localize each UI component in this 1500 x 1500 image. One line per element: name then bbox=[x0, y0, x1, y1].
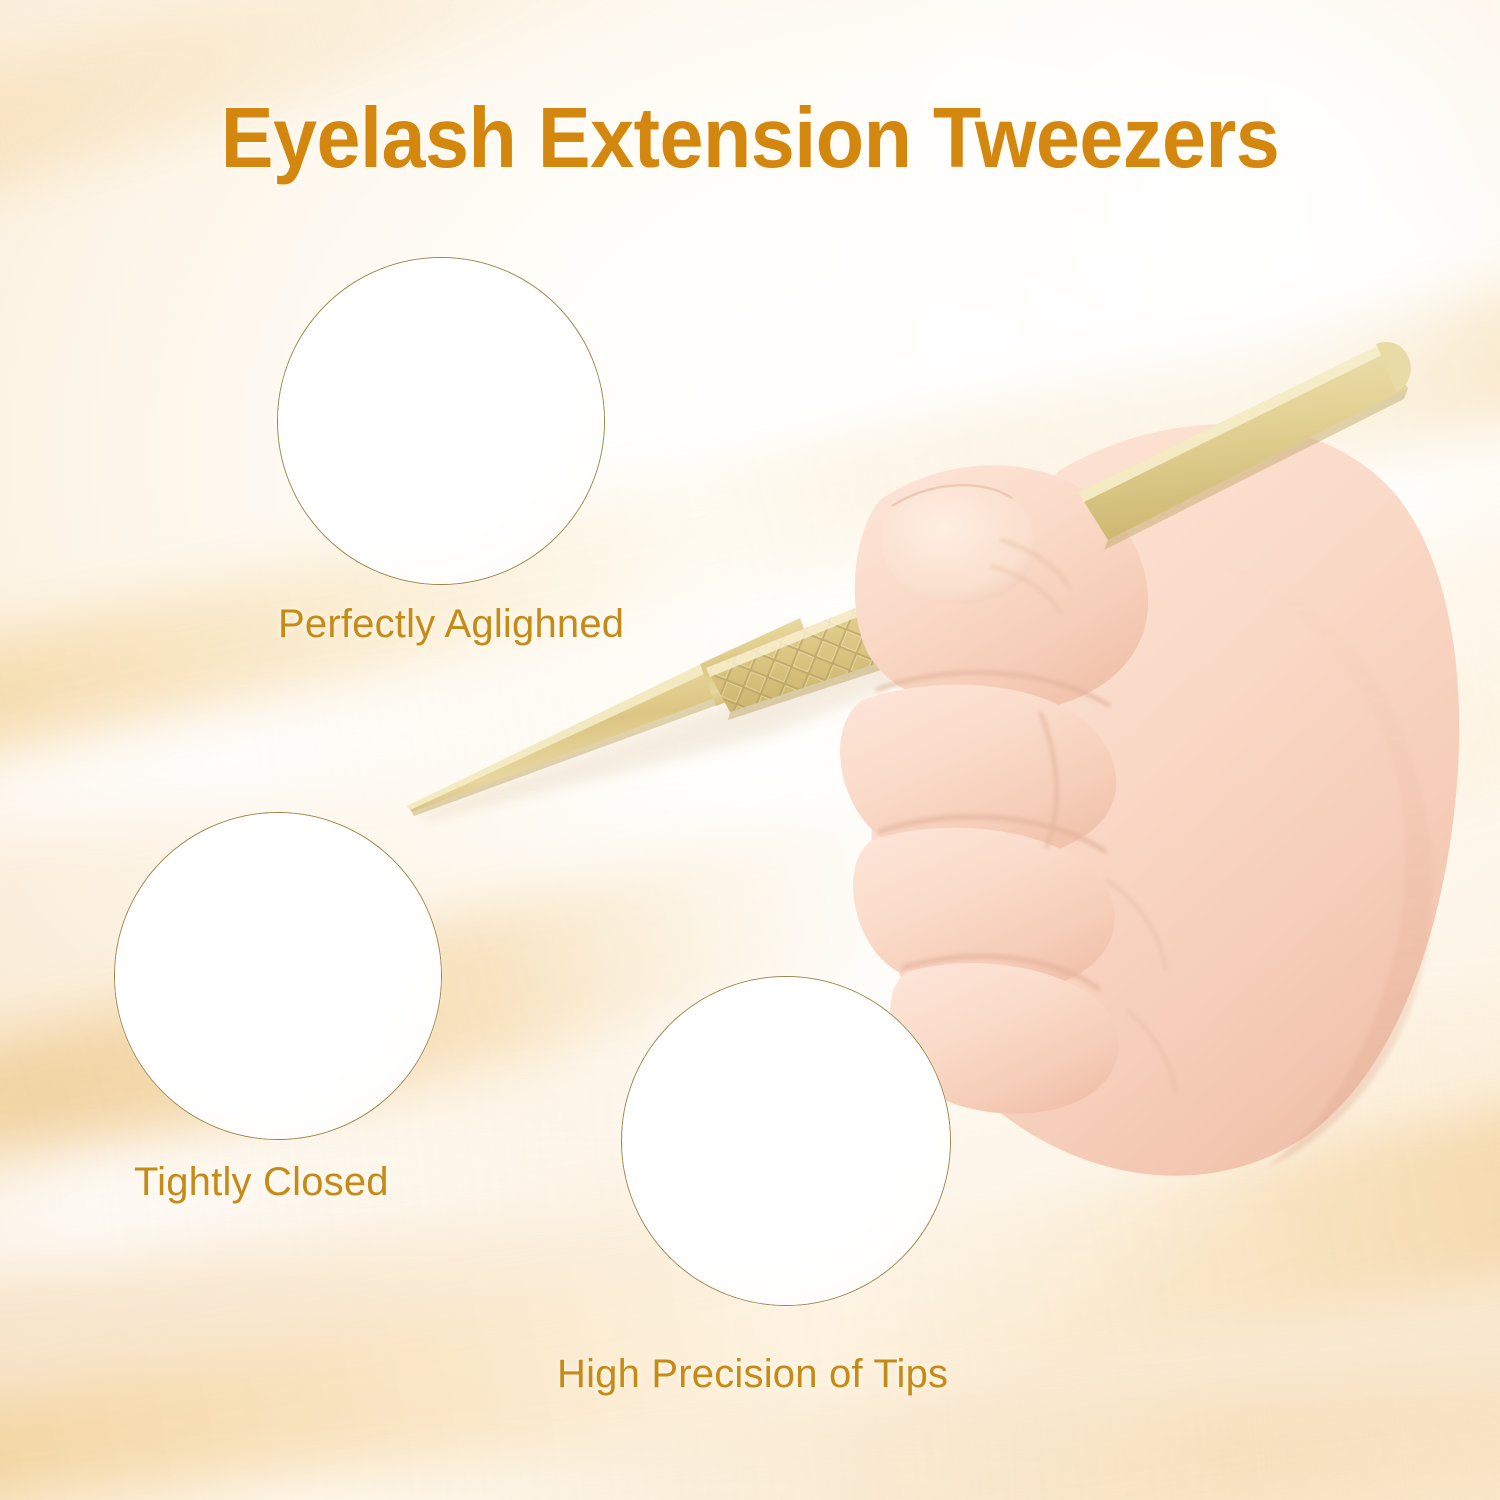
inset-background bbox=[278, 258, 604, 584]
feature-inset-aligned bbox=[277, 257, 605, 585]
caption-aligned: Perfectly Aglighned bbox=[278, 602, 624, 647]
product-marketing-image: Eyelash Extension Tweezers bbox=[0, 0, 1500, 1500]
caption-precision: High Precision of Tips bbox=[557, 1352, 948, 1397]
caption-closed: Tightly Closed bbox=[134, 1160, 389, 1205]
feature-inset-precision bbox=[621, 976, 951, 1306]
inset-background bbox=[622, 977, 950, 1305]
inset-background bbox=[115, 813, 441, 1139]
feature-inset-closed bbox=[114, 812, 442, 1140]
